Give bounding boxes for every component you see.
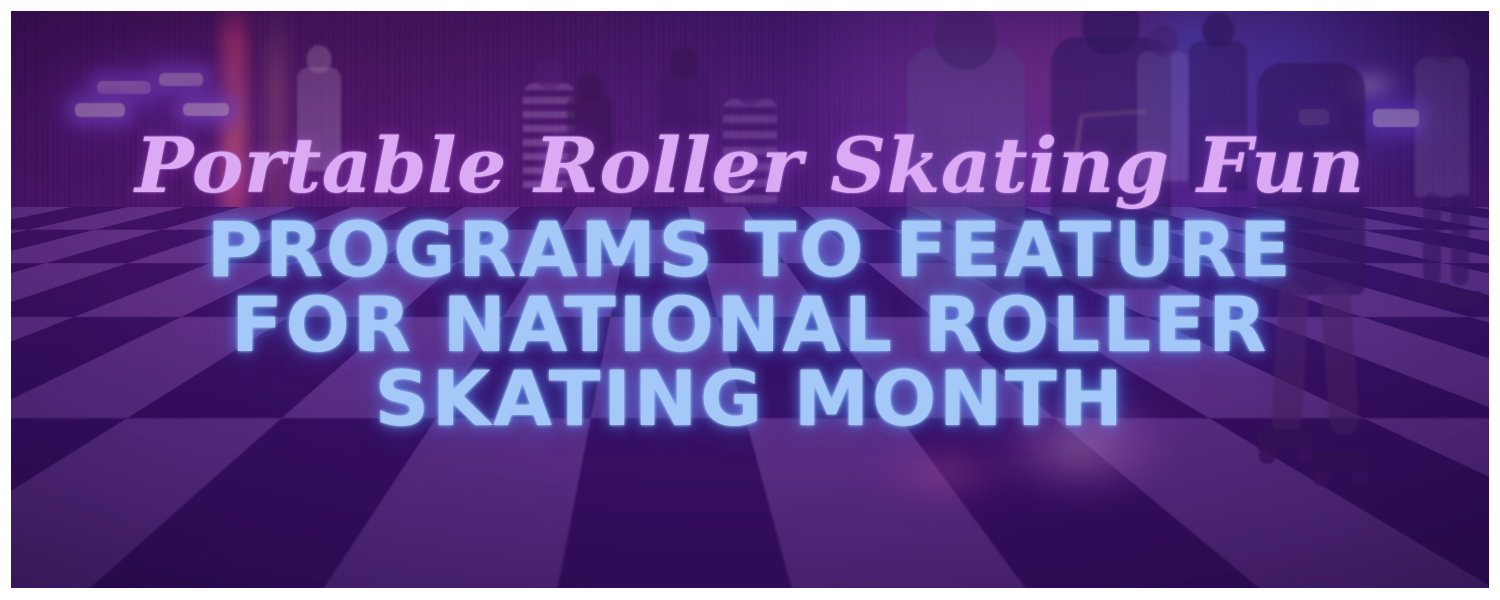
skate-wheel	[1351, 469, 1368, 486]
led-bar-light	[97, 81, 151, 94]
skater-leg	[1451, 193, 1469, 285]
person-silhouette	[657, 73, 711, 199]
person-silhouette-foreground	[907, 47, 1025, 297]
person-head	[577, 73, 604, 101]
led-bar-light	[159, 73, 203, 86]
skater-leg	[1423, 193, 1441, 285]
person-silhouette	[723, 99, 777, 203]
skate-wheel	[1313, 469, 1330, 486]
person-head	[535, 59, 563, 89]
floor-light-reflection	[986, 392, 1176, 502]
person-head	[1082, 11, 1140, 55]
banner-photo-stage: Portable Roller Skating Fun PROGRAMS TO …	[11, 11, 1489, 588]
roller-skater-background	[1415, 57, 1469, 197]
skate-wheel	[1259, 447, 1276, 464]
person-head	[935, 11, 997, 69]
roller-skate	[1445, 291, 1485, 307]
floor-light-reflection-secondary	[868, 438, 1018, 510]
led-bar-light	[1373, 109, 1419, 127]
person-head	[1427, 31, 1457, 63]
person-silhouette	[297, 67, 341, 171]
person-head	[737, 77, 764, 105]
person-head	[307, 45, 332, 73]
person-head	[669, 47, 699, 79]
roller-skater-foreground	[1257, 63, 1365, 295]
person-silhouette	[1189, 41, 1247, 191]
person-silhouette	[1137, 51, 1189, 181]
person-head	[1148, 25, 1178, 57]
person-silhouette	[567, 95, 613, 191]
led-bar-light	[75, 103, 125, 117]
skate-wheel	[1297, 447, 1314, 464]
background-photo	[11, 11, 1489, 588]
led-bar-light	[183, 103, 229, 116]
roller-skating-promo-banner: Portable Roller Skating Fun PROGRAMS TO …	[0, 0, 1500, 600]
person-head	[1202, 13, 1234, 47]
